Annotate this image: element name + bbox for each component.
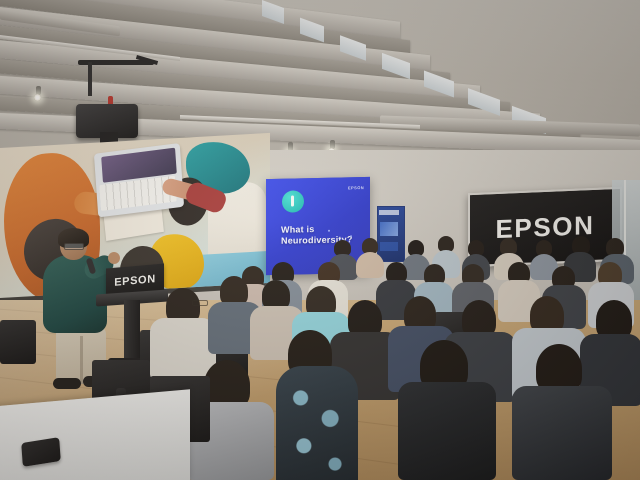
person-in-circle-icon-mark [291, 196, 294, 207]
audience-torso [398, 382, 496, 480]
presentation-room-photo: What is Neurodiversity? EPSON EPSON EPSO… [0, 0, 640, 480]
banner-footer-strip [380, 242, 398, 251]
lectern-stem [124, 300, 140, 362]
projector-mount-pole [88, 62, 92, 96]
audience-torso [150, 318, 216, 380]
audience-glasses [192, 300, 208, 306]
presenter-hand [108, 252, 120, 264]
presenter-trouser-seam [80, 336, 83, 384]
banner-header-strip [379, 210, 399, 215]
slide-decor-dot [350, 235, 352, 237]
slide-decor-dot [328, 230, 330, 232]
presenter-glasses [64, 243, 84, 250]
audience-torso [356, 252, 384, 278]
audience-torso [512, 386, 612, 480]
slide-logo: EPSON [348, 185, 364, 190]
track-spotlight [34, 94, 41, 101]
white-foreground-table [0, 389, 190, 480]
banner-graphic [380, 222, 398, 236]
lectern-sign-text: EPSON [114, 273, 156, 289]
audience-patterned-backpack [276, 366, 358, 480]
chair [0, 320, 36, 364]
presenter-shoe [53, 378, 81, 389]
